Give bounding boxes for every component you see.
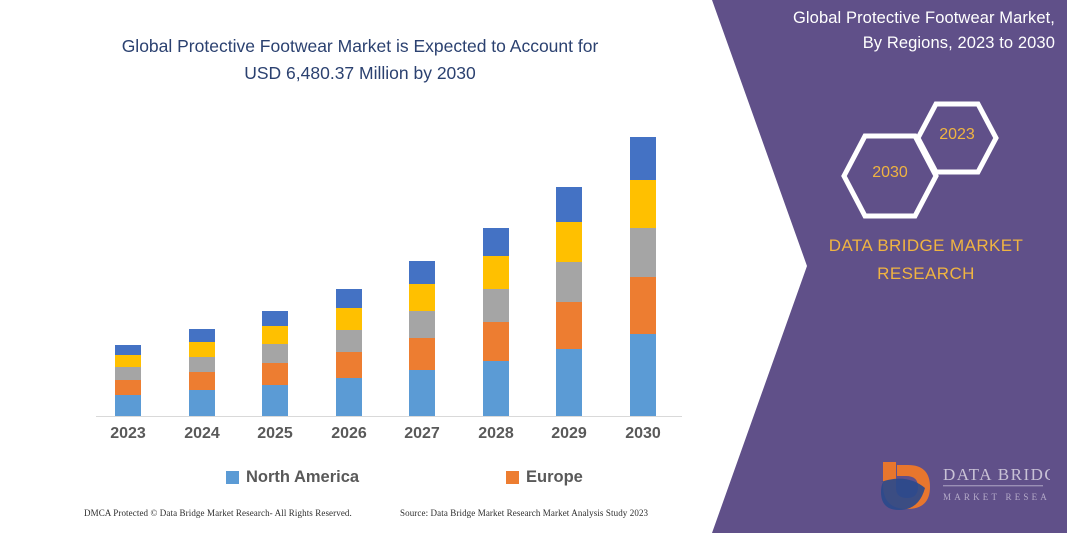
- hex-badge-2023: 2023: [914, 100, 1000, 176]
- chart-headline-line2: USD 6,480.37 Million by 2030: [70, 60, 650, 87]
- bar-segment-2027-north-america: [409, 370, 435, 417]
- bar-2029: [556, 187, 582, 417]
- bar-segment-2026-asia-pacific: [336, 330, 362, 352]
- chart-headline-line1: Global Protective Footwear Market is Exp…: [122, 36, 599, 56]
- bar-segment-2023-asia-pacific: [115, 367, 141, 380]
- hex-badge-2023-label: 2023: [914, 126, 1000, 144]
- x-axis-line: [96, 416, 682, 417]
- bar-segment-2030-asia-pacific: [630, 228, 656, 277]
- bar-segment-2028-europe: [483, 322, 509, 361]
- x-tick-label-2030: 2030: [613, 425, 673, 443]
- bar-segment-2024-south-america: [189, 342, 215, 357]
- bar-segment-2030-europe: [630, 277, 656, 334]
- bar-2026: [336, 289, 362, 417]
- bar-segment-2027-asia-pacific: [409, 311, 435, 338]
- bar-segment-2025-north-america: [262, 385, 288, 417]
- brand-name-line2: RESEARCH: [877, 264, 975, 283]
- bar-segment-2023-europe: [115, 380, 141, 395]
- svg-text:DATA BRIDGE: DATA BRIDGE: [943, 465, 1050, 484]
- bar-segment-2024-north-america: [189, 390, 215, 417]
- bar-segment-2025-europe: [262, 363, 288, 385]
- bar-2025: [262, 311, 288, 418]
- x-tick-label-2024: 2024: [172, 425, 232, 443]
- x-tick-label-2029: 2029: [539, 425, 599, 443]
- legend-swatch-icon: [506, 471, 519, 484]
- legend-swatch-icon: [226, 471, 239, 484]
- brand-name-line1: DATA BRIDGE MARKET: [829, 236, 1024, 255]
- x-tick-label-2026: 2026: [319, 425, 379, 443]
- svg-text:MARKET RESEARCH: MARKET RESEARCH: [943, 492, 1050, 502]
- bar-segment-2026-europe: [336, 352, 362, 378]
- brand-name: DATA BRIDGE MARKET RESEARCH: [800, 232, 1052, 288]
- legend-label: Europe: [526, 468, 583, 487]
- legend-item-north-america[interactable]: North America: [226, 468, 359, 487]
- panel-title: Global Protective Footwear Market, By Re…: [735, 6, 1055, 56]
- infographic-root: Global Protective Footwear Market is Exp…: [0, 0, 1067, 533]
- bar-segment-2027-south-america: [409, 284, 435, 311]
- x-axis-tick-labels: 20232024202520262027202820292030: [96, 425, 682, 451]
- bar-segment-2025-south-america: [262, 326, 288, 344]
- legend-item-europe[interactable]: Europe: [506, 468, 583, 487]
- bar-2030: [630, 137, 656, 417]
- bar-2023: [115, 344, 141, 417]
- bar-segment-2029-asia-pacific: [556, 262, 582, 302]
- footer: DMCA Protected © Data Bridge Market Rese…: [0, 508, 700, 530]
- bar-segment-2026-south-america: [336, 308, 362, 330]
- bar-2028: [483, 228, 509, 417]
- x-tick-label-2025: 2025: [245, 425, 305, 443]
- bar-segment-2029-europe: [556, 302, 582, 349]
- bar-segment-2028-south-america: [483, 256, 509, 289]
- footer-copyright: DMCA Protected © Data Bridge Market Rese…: [84, 508, 352, 518]
- x-tick-label-2027: 2027: [392, 425, 452, 443]
- logo-mark-icon: [881, 462, 930, 510]
- bar-segment-2023-north-america: [115, 395, 141, 417]
- bar-segment-2025-asia-pacific: [262, 344, 288, 363]
- legend-label: North America: [246, 468, 359, 487]
- bar-segment-2028-north-america: [483, 361, 509, 417]
- bar-segment-2025-middle-east-and-africa: [262, 311, 288, 326]
- chart-headline: Global Protective Footwear Market is Exp…: [70, 33, 650, 87]
- bar-segment-2027-middle-east-and-africa: [409, 261, 435, 284]
- bar-segment-2023-middle-east-and-africa: [115, 345, 141, 355]
- chart-legend: North AmericaEurope: [96, 468, 682, 494]
- panel-title-line2: By Regions, 2023 to 2030: [735, 31, 1055, 56]
- bar-segment-2024-europe: [189, 372, 215, 390]
- logo-wordmark: DATA BRIDGE MARKET RESEARCH: [943, 465, 1050, 502]
- bar-2027: [409, 261, 435, 417]
- bar-segment-2024-middle-east-and-africa: [189, 329, 215, 342]
- data-bridge-logo: DATA BRIDGE MARKET RESEARCH: [875, 458, 1050, 510]
- bar-segment-2030-north-america: [630, 334, 656, 417]
- bar-segment-2029-north-america: [556, 349, 582, 417]
- bar-segment-2026-north-america: [336, 378, 362, 417]
- bar-segment-2029-middle-east-and-africa: [556, 187, 582, 222]
- bar-segment-2028-asia-pacific: [483, 289, 509, 322]
- bar-segment-2030-middle-east-and-africa: [630, 137, 656, 180]
- bar-segment-2029-south-america: [556, 222, 582, 262]
- bar-2024: [189, 329, 215, 417]
- hex-badge-group: 2030 2023: [818, 100, 998, 210]
- bar-segment-2024-asia-pacific: [189, 357, 215, 372]
- footer-source: Source: Data Bridge Market Research Mark…: [400, 508, 648, 518]
- x-tick-label-2028: 2028: [466, 425, 526, 443]
- bar-segment-2027-europe: [409, 338, 435, 370]
- stacked-bar-chart: [96, 110, 682, 417]
- bar-segment-2030-south-america: [630, 180, 656, 228]
- bar-segment-2023-south-america: [115, 355, 141, 367]
- bar-segment-2026-middle-east-and-africa: [336, 289, 362, 308]
- bar-segment-2028-middle-east-and-africa: [483, 228, 509, 256]
- x-tick-label-2023: 2023: [98, 425, 158, 443]
- panel-title-line1: Global Protective Footwear Market,: [793, 9, 1055, 27]
